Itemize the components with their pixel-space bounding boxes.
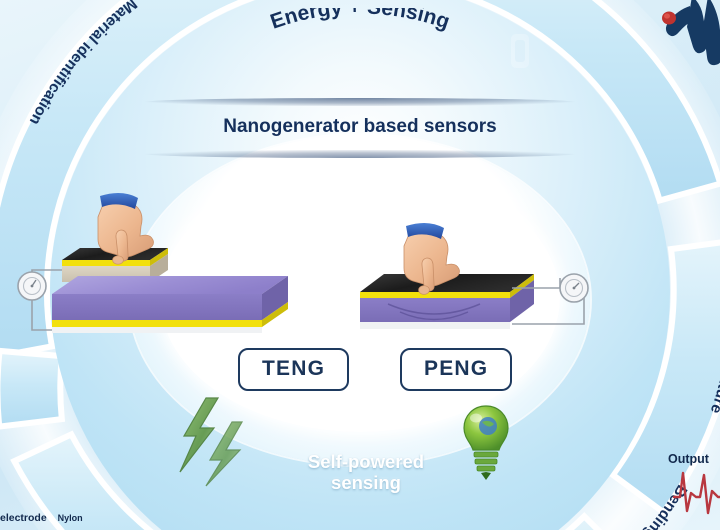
corner-legend-part2: Nylon bbox=[58, 513, 83, 523]
output-signal: Output bbox=[668, 452, 720, 530]
corner-legend: electrode Nylon bbox=[0, 512, 83, 524]
badge-peng[interactable]: PENG bbox=[400, 348, 512, 391]
arc-title-text: Energy + Sensing bbox=[268, 8, 453, 34]
heading-text: Nanogenerator based sensors bbox=[145, 106, 575, 150]
teng-bottom-layer bbox=[52, 276, 288, 333]
arc-title: Energy + Sensing bbox=[170, 8, 550, 98]
heading-rule-top bbox=[145, 98, 575, 106]
corner-legend-part1: electrode bbox=[0, 512, 47, 524]
output-label: Output bbox=[668, 452, 720, 466]
self-powered-sensing-label: Self-powered sensing bbox=[286, 452, 446, 493]
self-powered-line2: sensing bbox=[331, 472, 401, 493]
faint-watermark-icon bbox=[500, 28, 542, 80]
heading-rule-bottom bbox=[145, 150, 575, 158]
device-illustrations bbox=[0, 190, 720, 370]
eco-lightbulb-icon bbox=[462, 404, 510, 480]
heading-band: Nanogenerator based sensors bbox=[145, 98, 575, 158]
teng-meter-icon bbox=[18, 272, 46, 300]
human-figure-icon bbox=[640, 0, 720, 68]
peng-stack bbox=[360, 274, 534, 329]
peng-device bbox=[360, 223, 588, 329]
self-powered-line1: Self-powered bbox=[308, 451, 424, 472]
teng-device bbox=[18, 193, 288, 333]
badge-teng[interactable]: TENG bbox=[238, 348, 349, 391]
lightning-bolt-icon bbox=[172, 396, 254, 488]
output-waveform-icon bbox=[672, 467, 720, 521]
peng-meter-icon bbox=[560, 274, 588, 302]
figure-canvas: Distance sensing Touch (tactile) Texture… bbox=[0, 0, 720, 530]
